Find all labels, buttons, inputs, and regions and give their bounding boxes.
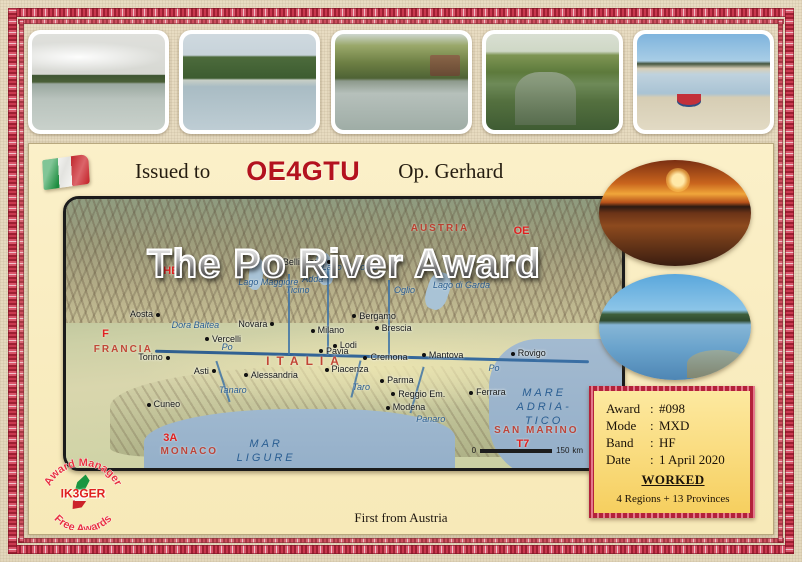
scale-unit: km <box>572 446 583 455</box>
map-city-name: Ferrara <box>476 387 506 397</box>
map-city-label: Asti <box>194 366 216 376</box>
border-braid-left <box>8 8 17 554</box>
map-city-label: Cuneo <box>147 399 181 409</box>
map-city-name: Mantova <box>429 350 464 360</box>
map-city-dot <box>363 356 367 360</box>
award-title: The Po River Award <box>66 242 622 287</box>
map-city-dot <box>386 406 390 410</box>
award-details-inner: Award:#098Mode:MXDBand:HFDate:1 April 20… <box>594 391 750 513</box>
map-country-label: MONACO <box>161 446 219 457</box>
map-city-dot <box>391 392 395 396</box>
award-detail-row: Award:#098 <box>606 400 740 417</box>
map-water-label: Dora Baltea <box>172 320 220 330</box>
map-city-name: Piacenza <box>332 364 369 374</box>
map-sea-label: MARLIGURE <box>237 438 296 466</box>
map-city-dot <box>319 349 323 353</box>
map-city-dot <box>147 403 151 407</box>
map-country-label: AUSTRIA <box>411 223 469 234</box>
map-prefix-label: OE <box>514 225 530 237</box>
map-city-dot <box>511 352 515 356</box>
map-city-name: Milano <box>318 325 345 335</box>
operator-name: Op. Gerhard <box>398 159 503 184</box>
map-city-name: Bergamo <box>359 311 396 321</box>
map-city-dot <box>352 314 356 318</box>
wooded-bank-river-photo <box>183 34 316 130</box>
map-city-label: Bergamo <box>352 311 396 321</box>
map-sea-label: MAREADRIA-TICO <box>517 387 572 428</box>
award-details-box: Award:#098Mode:MXDBand:HFDate:1 April 20… <box>589 386 755 518</box>
border-braid-bottom <box>8 545 794 554</box>
map-city-label: Lodi <box>333 340 357 350</box>
border-braid-right <box>785 8 794 554</box>
map-city-label: Parma <box>380 375 414 385</box>
map-city-name: Parma <box>387 375 414 385</box>
map-city-label: Cremona <box>363 352 407 362</box>
map-water-label: Taro <box>352 382 370 392</box>
map-city-name: Novara <box>238 319 267 329</box>
scale-bar-line <box>480 449 552 453</box>
map-city-name: Reggio Em. <box>398 389 445 399</box>
award-detail-key: Date <box>606 451 650 468</box>
award-detail-key: Award <box>606 400 650 417</box>
award-detail-row: Mode:MXD <box>606 417 740 434</box>
map-city-dot <box>422 353 426 357</box>
award-detail-row: Date:1 April 2020 <box>606 451 740 468</box>
map-city-label: Reggio Em. <box>391 389 445 399</box>
photo-wooded-bank-river <box>179 30 320 134</box>
photo-riverbank-boat <box>331 30 472 134</box>
map-water-label: Panaro <box>416 414 445 424</box>
map-city-label: Brescia <box>375 323 412 333</box>
map-city-dot <box>311 329 315 333</box>
map-city-dot <box>244 373 248 377</box>
border-braid-top <box>8 8 794 17</box>
certificate-caption: First from Austria <box>29 510 773 526</box>
map-prefix-label: F <box>102 328 109 340</box>
map-city-name: Lodi <box>340 340 357 350</box>
map-city-label: Milano <box>311 325 345 335</box>
italy-flag-icon <box>42 153 90 189</box>
photo-overcast-river <box>28 30 169 134</box>
map-base: ITALIA BellinzonaAostaNovaraVercelliTori… <box>66 199 622 468</box>
map-city-name: Cremona <box>370 352 407 362</box>
certificate: Issued to OE4GTU Op. Gerhard <box>0 0 802 562</box>
award-detail-separator: : <box>650 417 659 434</box>
map-city-dot <box>333 344 337 348</box>
award-detail-separator: : <box>650 434 659 451</box>
status-badge: WORKED <box>606 472 740 488</box>
map-city-dot <box>469 391 473 395</box>
map-city-label: Aosta <box>130 309 160 319</box>
map-city-name: Asti <box>194 366 209 376</box>
map-prefix-label: 3A <box>163 432 177 444</box>
map-scale-bar: 0 150 km <box>472 446 583 455</box>
award-detail-value: #098 <box>659 401 685 416</box>
map-water-label: Po <box>489 363 500 373</box>
border-braid-inner-left <box>19 19 24 543</box>
award-detail-value: MXD <box>659 418 689 433</box>
map-city-label: Modena <box>386 402 426 412</box>
border-braid-inner-top <box>18 19 784 24</box>
map-city-label: Piacenza <box>325 364 369 374</box>
award-header: Issued to OE4GTU Op. Gerhard <box>29 144 607 199</box>
main-panel: Issued to OE4GTU Op. Gerhard <box>28 143 774 535</box>
photo-green-channel <box>482 30 623 134</box>
award-detail-separator: : <box>650 400 659 417</box>
map-city-name: Alessandria <box>251 370 298 380</box>
photo-sandbar-boat <box>633 30 774 134</box>
riverbank-boat-photo <box>335 34 468 130</box>
award-detail-rows: Award:#098Mode:MXDBand:HFDate:1 April 20… <box>606 400 740 469</box>
map-city-name: Aosta <box>130 309 153 319</box>
map-city-name: Modena <box>393 402 426 412</box>
map-city-dot <box>212 369 216 373</box>
sunset-river-photo <box>599 160 751 266</box>
map-city-name: Cuneo <box>154 399 181 409</box>
green-channel-photo <box>486 34 619 130</box>
map-city-dot <box>325 368 329 372</box>
award-detail-row: Band:HF <box>606 434 740 451</box>
overcast-river-photo <box>32 34 165 130</box>
regions-summary: 4 Regions + 13 Provinces <box>606 493 740 505</box>
border-braid-inner-bottom <box>18 538 784 543</box>
photo-strip <box>28 26 774 138</box>
award-detail-separator: : <box>650 451 659 468</box>
map-city-label: Ferrara <box>469 387 506 397</box>
map-city-dot <box>375 326 379 330</box>
map-city-dot <box>166 356 170 360</box>
map-city-dot <box>156 313 160 317</box>
map-city-label: Rovigo <box>511 348 546 358</box>
ligurian-sea-shape <box>144 409 455 471</box>
map-city-dot <box>270 322 274 326</box>
map-city-label: Novara <box>238 319 274 329</box>
award-detail-value: 1 April 2020 <box>659 452 725 467</box>
sandbar-boat-photo <box>637 34 770 130</box>
map-country-label: FRANCIA <box>94 344 153 355</box>
map-water-label: Tanaro <box>219 385 247 395</box>
award-detail-key: Band <box>606 434 650 451</box>
award-manager-callsign: IK3GER <box>61 487 106 501</box>
map-city-dot <box>380 379 384 383</box>
blue-sky-river-photo <box>599 274 751 380</box>
map-city-name: Brescia <box>382 323 412 333</box>
map-water-label: Po <box>222 342 233 352</box>
map-city-name: Rovigo <box>518 348 546 358</box>
map-city-label: Alessandria <box>244 370 298 380</box>
scale-zero: 0 <box>472 446 476 455</box>
map-city-dot <box>205 337 209 341</box>
award-detail-value: HF <box>659 435 676 450</box>
award-detail-key: Mode <box>606 417 650 434</box>
border-braid-inner-right <box>778 19 783 543</box>
scale-value: 150 <box>556 446 569 455</box>
recipient-callsign: OE4GTU <box>246 156 360 187</box>
map-city-label: Mantova <box>422 350 464 360</box>
issued-to-label: Issued to <box>135 159 210 184</box>
map-container: ITALIA BellinzonaAostaNovaraVercelliTori… <box>63 196 625 471</box>
